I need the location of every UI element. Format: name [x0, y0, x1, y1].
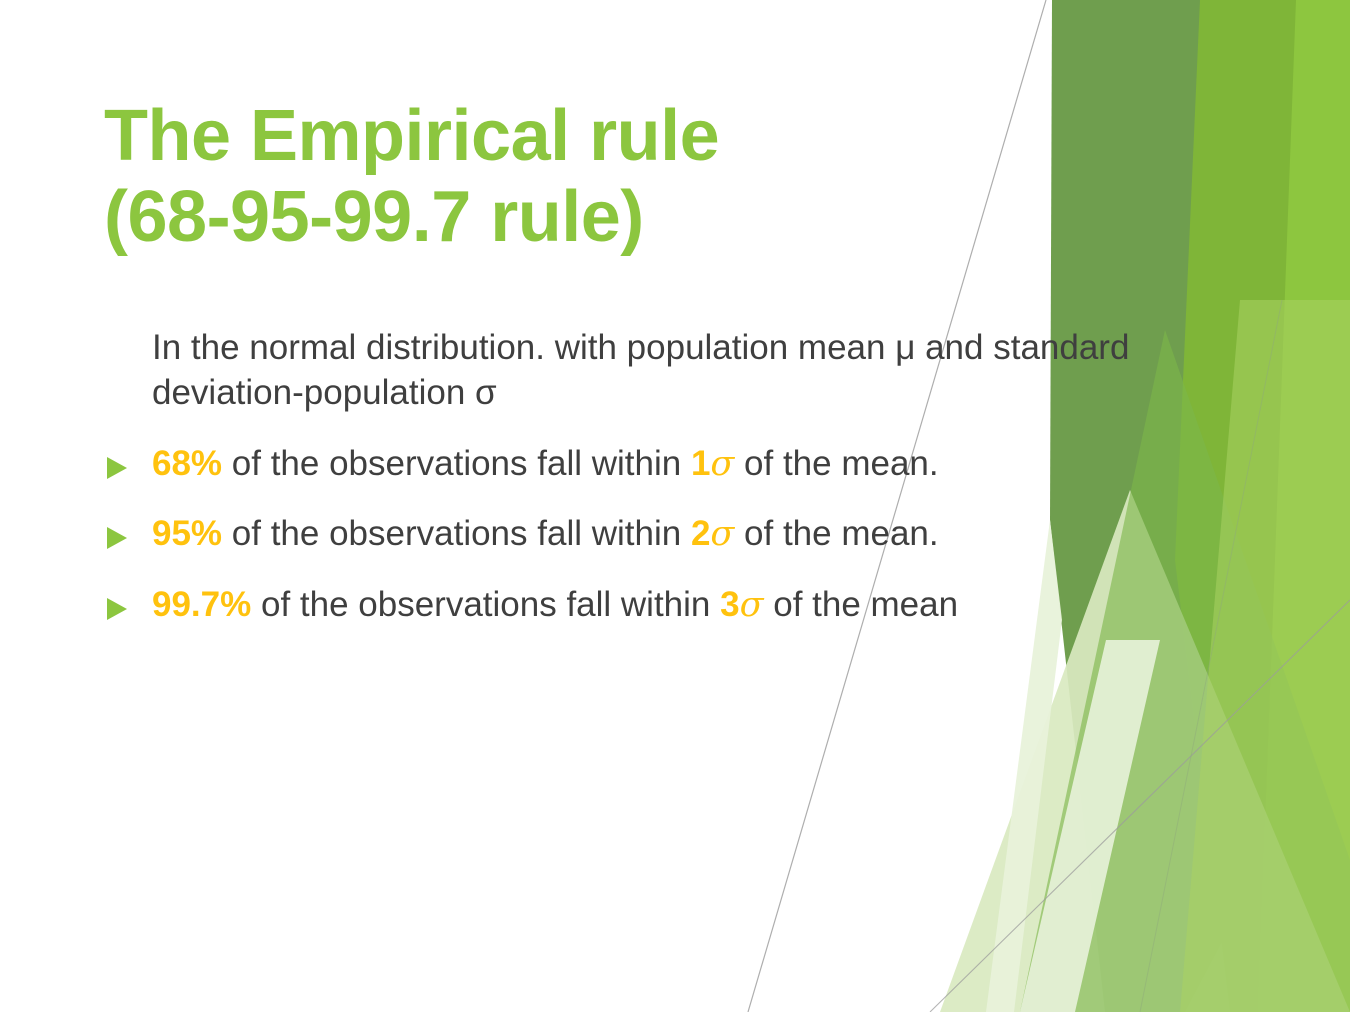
bullet-mid: of the observations fall within — [251, 585, 720, 624]
bullet-text: 95% of the observations fall within 2σ o… — [152, 512, 1284, 557]
bullet-percent: 68% — [152, 444, 222, 483]
list-item: 68% of the observations fall within 1σ o… — [104, 442, 1284, 487]
decor-shape-pale-strip — [1020, 640, 1160, 1012]
bullet-sigma-count: 2 — [691, 514, 710, 553]
bullet-tail: of the mean. — [734, 514, 938, 553]
triangle-right-icon — [104, 512, 152, 552]
sigma-symbol: σ — [710, 514, 734, 554]
bullet-tail: of the mean. — [734, 444, 938, 483]
bullet-sigma-count: 3 — [720, 585, 739, 624]
title-line-1: The Empirical rule — [104, 96, 1064, 177]
bullet-text: 99.7% of the observations fall within 3σ… — [152, 583, 1284, 628]
bullet-mid: of the observations fall within — [222, 444, 691, 483]
bullet-sigma-count: 1 — [691, 444, 710, 483]
bullet-percent: 99.7% — [152, 585, 251, 624]
sigma-symbol: σ — [740, 585, 764, 625]
bullet-tail: of the mean — [764, 585, 959, 624]
intro-paragraph: In the normal distribution. with populat… — [152, 326, 1212, 416]
triangle-right-icon — [104, 442, 152, 482]
slide-canvas: The Empirical rule (68-95-99.7 rule) In … — [0, 0, 1350, 1012]
decor-hairline-secondary — [930, 600, 1350, 1012]
bullet-percent: 95% — [152, 514, 222, 553]
sigma-symbol: σ — [710, 444, 734, 484]
bullet-text: 68% of the observations fall within 1σ o… — [152, 442, 1284, 487]
triangle-right-icon — [104, 583, 152, 623]
title-line-2: (68-95-99.7 rule) — [104, 177, 1064, 258]
list-item: 95% of the observations fall within 2σ o… — [104, 512, 1284, 557]
slide-body: In the normal distribution. with populat… — [104, 326, 1284, 628]
page-title: The Empirical rule (68-95-99.7 rule) — [104, 96, 1064, 257]
bullet-mid: of the observations fall within — [222, 514, 691, 553]
list-item: 99.7% of the observations fall within 3σ… — [104, 583, 1284, 628]
